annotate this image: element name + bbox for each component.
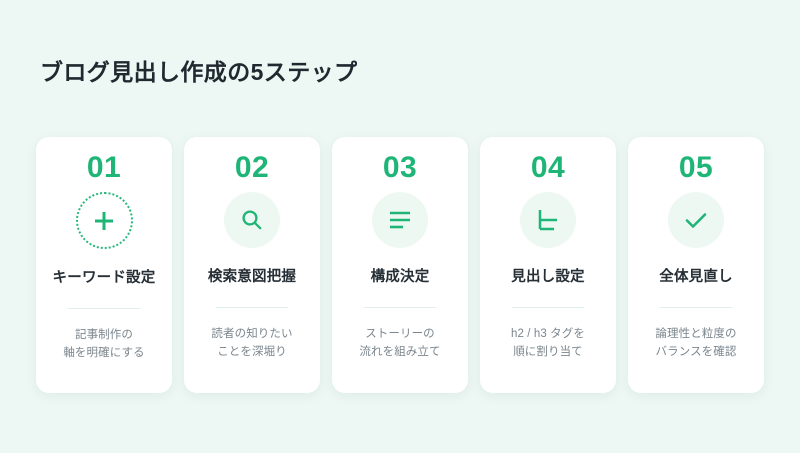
step-description-line-2: バランスを確認 (655, 344, 736, 362)
infographic-page: ブログ見出し作成の5ステップ 01 キーワード設定 記事制作の 軸を明確にする … (0, 0, 800, 453)
step-description-line-1: h2 / h3 タグを (511, 326, 585, 344)
step-number: 03 (383, 151, 417, 184)
step-card-05[interactable]: 05 全体見直し 論理性と粒度の バランスを確認 (628, 137, 764, 393)
step-number: 04 (531, 151, 565, 184)
card-divider (216, 307, 288, 308)
step-description: 記事制作の 軸を明確にする (63, 327, 144, 363)
step-description-line-1: 記事制作の (63, 327, 144, 345)
page-title: ブログ見出し作成の5ステップ (40, 53, 357, 87)
card-divider (68, 308, 140, 309)
card-divider (660, 307, 732, 308)
step-number: 05 (679, 151, 713, 184)
step-description: 読者の知りたい ことを深堀り (211, 326, 292, 362)
check-icon (668, 192, 724, 248)
search-icon (224, 192, 280, 248)
step-description-line-2: 軸を明確にする (63, 345, 144, 363)
step-title: キーワード設定 (53, 266, 156, 287)
card-divider (364, 307, 436, 308)
step-card-03[interactable]: 03 構成決定 ストーリーの 流れを組み立て (332, 137, 468, 393)
step-number: 02 (235, 151, 269, 184)
card-divider (512, 307, 584, 308)
step-description: ストーリーの 流れを組み立て (359, 326, 440, 362)
step-description: h2 / h3 タグを 順に割り当て (511, 326, 585, 362)
plus-in-dotted-circle-icon (76, 192, 133, 249)
step-title: 検索意図把握 (208, 265, 296, 286)
step-number: 01 (87, 151, 121, 184)
step-description-line-1: 読者の知りたい (211, 326, 292, 344)
step-description-line-2: 流れを組み立て (359, 344, 440, 362)
step-card-01[interactable]: 01 キーワード設定 記事制作の 軸を明確にする (36, 137, 172, 393)
hierarchy-icon (520, 192, 576, 248)
step-description: 論理性と粒度の バランスを確認 (655, 326, 736, 362)
list-lines-icon (372, 192, 428, 248)
step-description-line-2: ことを深堀り (211, 344, 292, 362)
step-card-02[interactable]: 02 検索意図把握 読者の知りたい ことを深堀り (184, 137, 320, 393)
step-description-line-1: ストーリーの (359, 326, 440, 344)
step-card-list: 01 キーワード設定 記事制作の 軸を明確にする 02 検索意図 (36, 137, 764, 393)
step-card-04[interactable]: 04 見出し設定 h2 / h3 タグを 順に割り当て (480, 137, 616, 393)
step-title: 全体見直し (659, 265, 733, 286)
step-description-line-2: 順に割り当て (511, 344, 585, 362)
step-title: 構成決定 (371, 265, 430, 286)
step-title: 見出し設定 (511, 265, 585, 286)
step-description-line-1: 論理性と粒度の (655, 326, 736, 344)
